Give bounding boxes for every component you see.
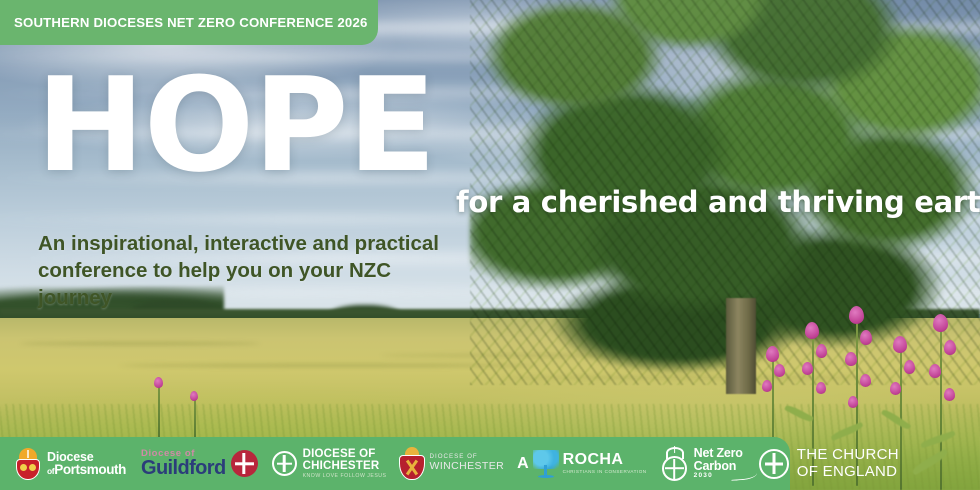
logo-diocese-of-chichester[interactable]: DIOCESE OF CHICHESTER KNOW LOVE FOLLOW J…: [272, 443, 387, 485]
church-of-england-cross-icon: [759, 449, 789, 479]
page-title: HOPE: [36, 62, 435, 189]
guildford-cross-circle-icon: [231, 450, 258, 477]
chichester-cross-circle-icon: [272, 451, 297, 476]
logo-a-rocha[interactable]: A ROCHA CHRISTIANS IN CONSERVATION: [517, 443, 647, 485]
subtitle-text: An inspirational, interactive and practi…: [38, 230, 458, 311]
logo-diocese-of-guildford[interactable]: Diocese of Guildford: [141, 443, 258, 485]
portsmouth-mitre-shield-icon: [14, 448, 42, 480]
winchester-wordmark: DIOCESE OF WINCHESTER: [430, 454, 505, 473]
arocha-line-1: ROCHA: [563, 452, 647, 468]
arocha-strapline: CHRISTIANS IN CONSERVATION: [563, 470, 647, 475]
coe-line-1: THE CHURCH: [797, 447, 899, 464]
partner-logo-bar: Diocese ofPortsmouth Diocese of Guildfor…: [0, 437, 790, 490]
subtitle-line-2: conference to help you on your NZC journ…: [38, 257, 458, 311]
chichester-line-2: CHICHESTER: [303, 460, 387, 472]
arocha-tree-icon: [533, 450, 559, 478]
coe-line-2: OF ENGLAND: [797, 464, 899, 481]
guildford-line-2: Guildford: [141, 458, 226, 478]
arocha-letter-a: A: [517, 455, 529, 473]
net-zero-carbon-globe-icon: [660, 447, 690, 481]
nzc-swoosh-icon: [730, 469, 757, 481]
logo-diocese-of-winchester[interactable]: DIOCESE OF WINCHESTER: [399, 443, 505, 485]
guildford-wordmark: Diocese of Guildford: [141, 449, 226, 479]
chichester-wordmark: DIOCESE OF CHICHESTER KNOW LOVE FOLLOW J…: [303, 448, 387, 480]
portsmouth-line-2: ofPortsmouth: [47, 463, 126, 477]
portsmouth-city: Portsmouth: [54, 462, 126, 477]
portsmouth-wordmark: Diocese ofPortsmouth: [47, 451, 126, 477]
arocha-wordmark: ROCHA CHRISTIANS IN CONSERVATION: [563, 452, 647, 475]
chichester-line-1: DIOCESE OF: [303, 448, 387, 460]
winchester-line-2: WINCHESTER: [430, 461, 505, 473]
subtitle-line-1: An inspirational, interactive and practi…: [38, 230, 458, 257]
chichester-strapline: KNOW LOVE FOLLOW JESUS: [303, 474, 387, 480]
conference-name-banner: SOUTHERN DIOCESES NET ZERO CONFERENCE 20…: [0, 0, 378, 45]
winchester-shield-icon: [399, 447, 425, 480]
tagline-text: for a cherished and thriving earth: [456, 185, 980, 219]
church-of-england-wordmark: THE CHURCH OF ENGLAND: [797, 447, 899, 480]
scattered-wildflowers: [150, 355, 270, 445]
logo-diocese-of-portsmouth[interactable]: Diocese ofPortsmouth: [14, 443, 126, 485]
logo-church-of-england[interactable]: THE CHURCH OF ENGLAND: [759, 443, 899, 485]
conference-poster: SOUTHERN DIOCESES NET ZERO CONFERENCE 20…: [0, 0, 980, 490]
conference-name-text: SOUTHERN DIOCESES NET ZERO CONFERENCE 20…: [0, 15, 368, 30]
logo-net-zero-carbon-2030[interactable]: Net Zero Carbon 2030: [660, 443, 743, 485]
net-zero-carbon-wordmark: Net Zero Carbon 2030: [694, 447, 743, 479]
